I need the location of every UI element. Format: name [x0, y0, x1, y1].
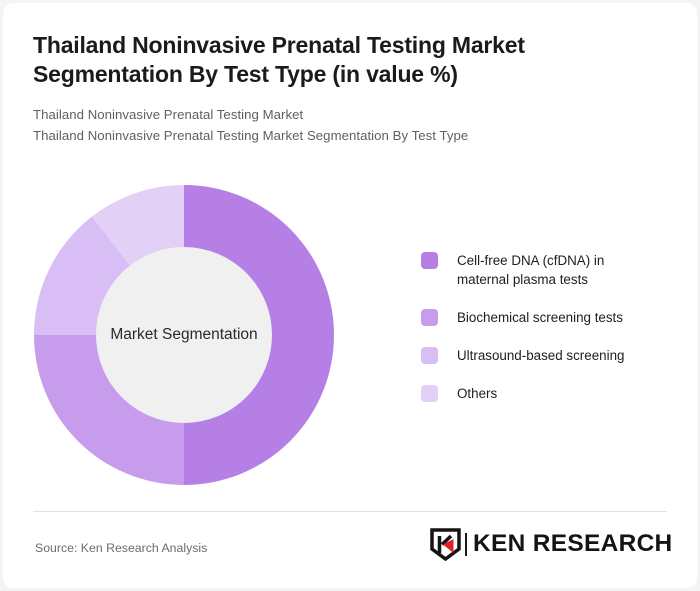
legend-item-label: Biochemical screening tests: [457, 308, 623, 327]
breadcrumb-market: Thailand Noninvasive Prenatal Testing Ma…: [33, 105, 653, 125]
page-title: Thailand Noninvasive Prenatal Testing Ma…: [33, 31, 653, 89]
logo-wordmark: KEN RESEARCH: [473, 530, 673, 558]
chart-card: Thailand Noninvasive Prenatal Testing Ma…: [3, 3, 697, 588]
subtitle-group: Thailand Noninvasive Prenatal Testing Ma…: [33, 105, 653, 146]
legend-swatch-icon: [421, 347, 438, 364]
legend-item[interactable]: Ultrasound-based screening: [421, 346, 671, 365]
header: Thailand Noninvasive Prenatal Testing Ma…: [33, 31, 653, 146]
donut-center-circle: [96, 247, 272, 423]
logo-separator: [465, 533, 467, 556]
source-note: Source: Ken Research Analysis: [35, 541, 207, 555]
legend-item-label: Ultrasound-based screening: [457, 346, 624, 365]
legend-item[interactable]: Others: [421, 384, 671, 403]
legend-swatch-icon: [421, 309, 438, 326]
donut-svg: [34, 185, 334, 485]
footer-divider: [33, 511, 667, 512]
ken-research-logo: KEN RESEARCH: [430, 527, 669, 561]
legend-item-label: Others: [457, 384, 497, 403]
legend-item[interactable]: Biochemical screening tests: [421, 308, 671, 327]
donut-chart: Market Segmentation: [34, 185, 334, 485]
breadcrumb-segmentation: Thailand Noninvasive Prenatal Testing Ma…: [33, 126, 653, 146]
legend-swatch-icon: [421, 385, 438, 402]
ken-research-logo-icon: [430, 528, 461, 561]
legend: Cell-free DNA (cfDNA) in maternal plasma…: [421, 251, 671, 403]
legend-item-label: Cell-free DNA (cfDNA) in maternal plasma…: [457, 251, 653, 289]
legend-item[interactable]: Cell-free DNA (cfDNA) in maternal plasma…: [421, 251, 671, 289]
legend-swatch-icon: [421, 252, 438, 269]
chart-area: Market Segmentation Cell-free DNA (cfDNA…: [3, 173, 697, 503]
